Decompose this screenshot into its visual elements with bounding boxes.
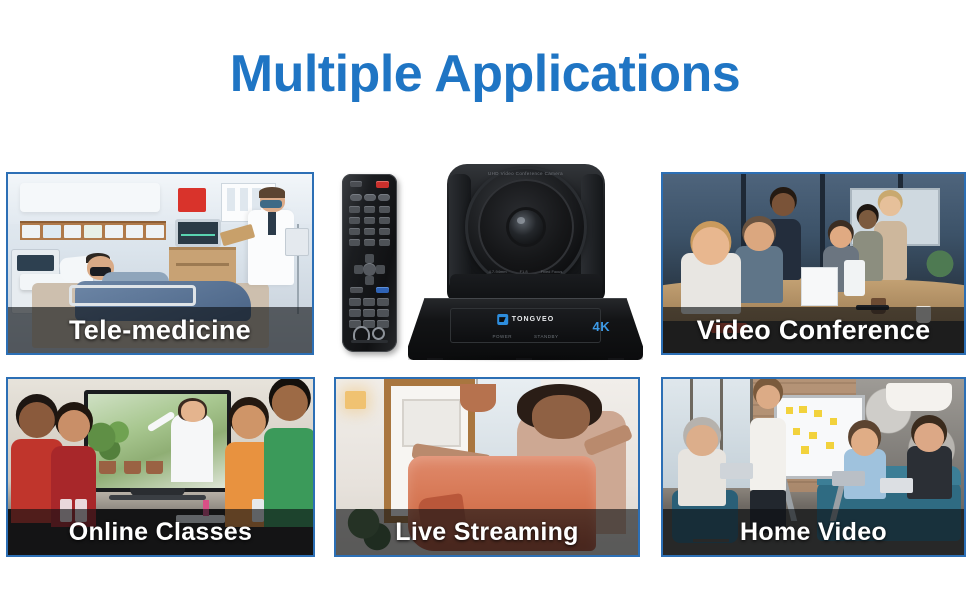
panel-caption-telemedicine: Tele-medicine <box>8 307 312 353</box>
camera-lens-head: UHD Video Conference Camera 4.7-94mm F1.… <box>465 166 587 288</box>
remote-menu-button[interactable] <box>376 287 389 293</box>
panel-video-conference[interactable]: Video Conference <box>661 172 966 355</box>
panel-caption-video-conference: Video Conference <box>663 307 964 353</box>
panel-live-streaming[interactable]: Live Streaming <box>334 377 640 557</box>
standby-indicator-label: STANDBY <box>534 334 558 339</box>
camera-lens-glass <box>509 210 543 244</box>
brand-mark-icon <box>497 314 508 325</box>
power-indicator-label: POWER <box>493 334 513 339</box>
camera-indicator-labels: POWER STANDBY <box>493 334 559 339</box>
lens-ring-top-text: UHD Video Conference Camera <box>488 171 563 176</box>
slide-canvas: Multiple Applications <box>0 0 970 600</box>
product-showcase: UHD Video Conference Camera 4.7-94mm F1.… <box>330 160 655 360</box>
ptz-camera[interactable]: UHD Video Conference Camera 4.7-94mm F1.… <box>408 160 643 360</box>
camera-base: TONGVEO 4K POWER STANDBY <box>408 298 643 360</box>
remote-dpad[interactable] <box>354 254 385 285</box>
panel-caption-home-video: Home Video <box>663 509 964 555</box>
resolution-badge: 4K <box>592 319 610 334</box>
camera-brand-logo: TONGVEO <box>497 314 555 325</box>
page-title: Multiple Applications <box>0 46 970 103</box>
remote-control[interactable] <box>342 174 397 352</box>
panel-caption-online-classes: Online Classes <box>8 509 313 555</box>
remote-ok-button[interactable] <box>363 263 376 276</box>
remote-power-button[interactable] <box>376 181 389 188</box>
panel-online-classes[interactable]: Online Classes <box>6 377 315 557</box>
panel-telemedicine[interactable]: Tele-medicine <box>6 172 314 355</box>
brand-name: TONGVEO <box>512 316 555 323</box>
panel-caption-live-streaming: Live Streaming <box>336 509 638 555</box>
remote-keypad[interactable] <box>349 206 390 248</box>
product-shadow <box>416 354 636 362</box>
panel-home-video[interactable]: Home Video <box>661 377 966 557</box>
